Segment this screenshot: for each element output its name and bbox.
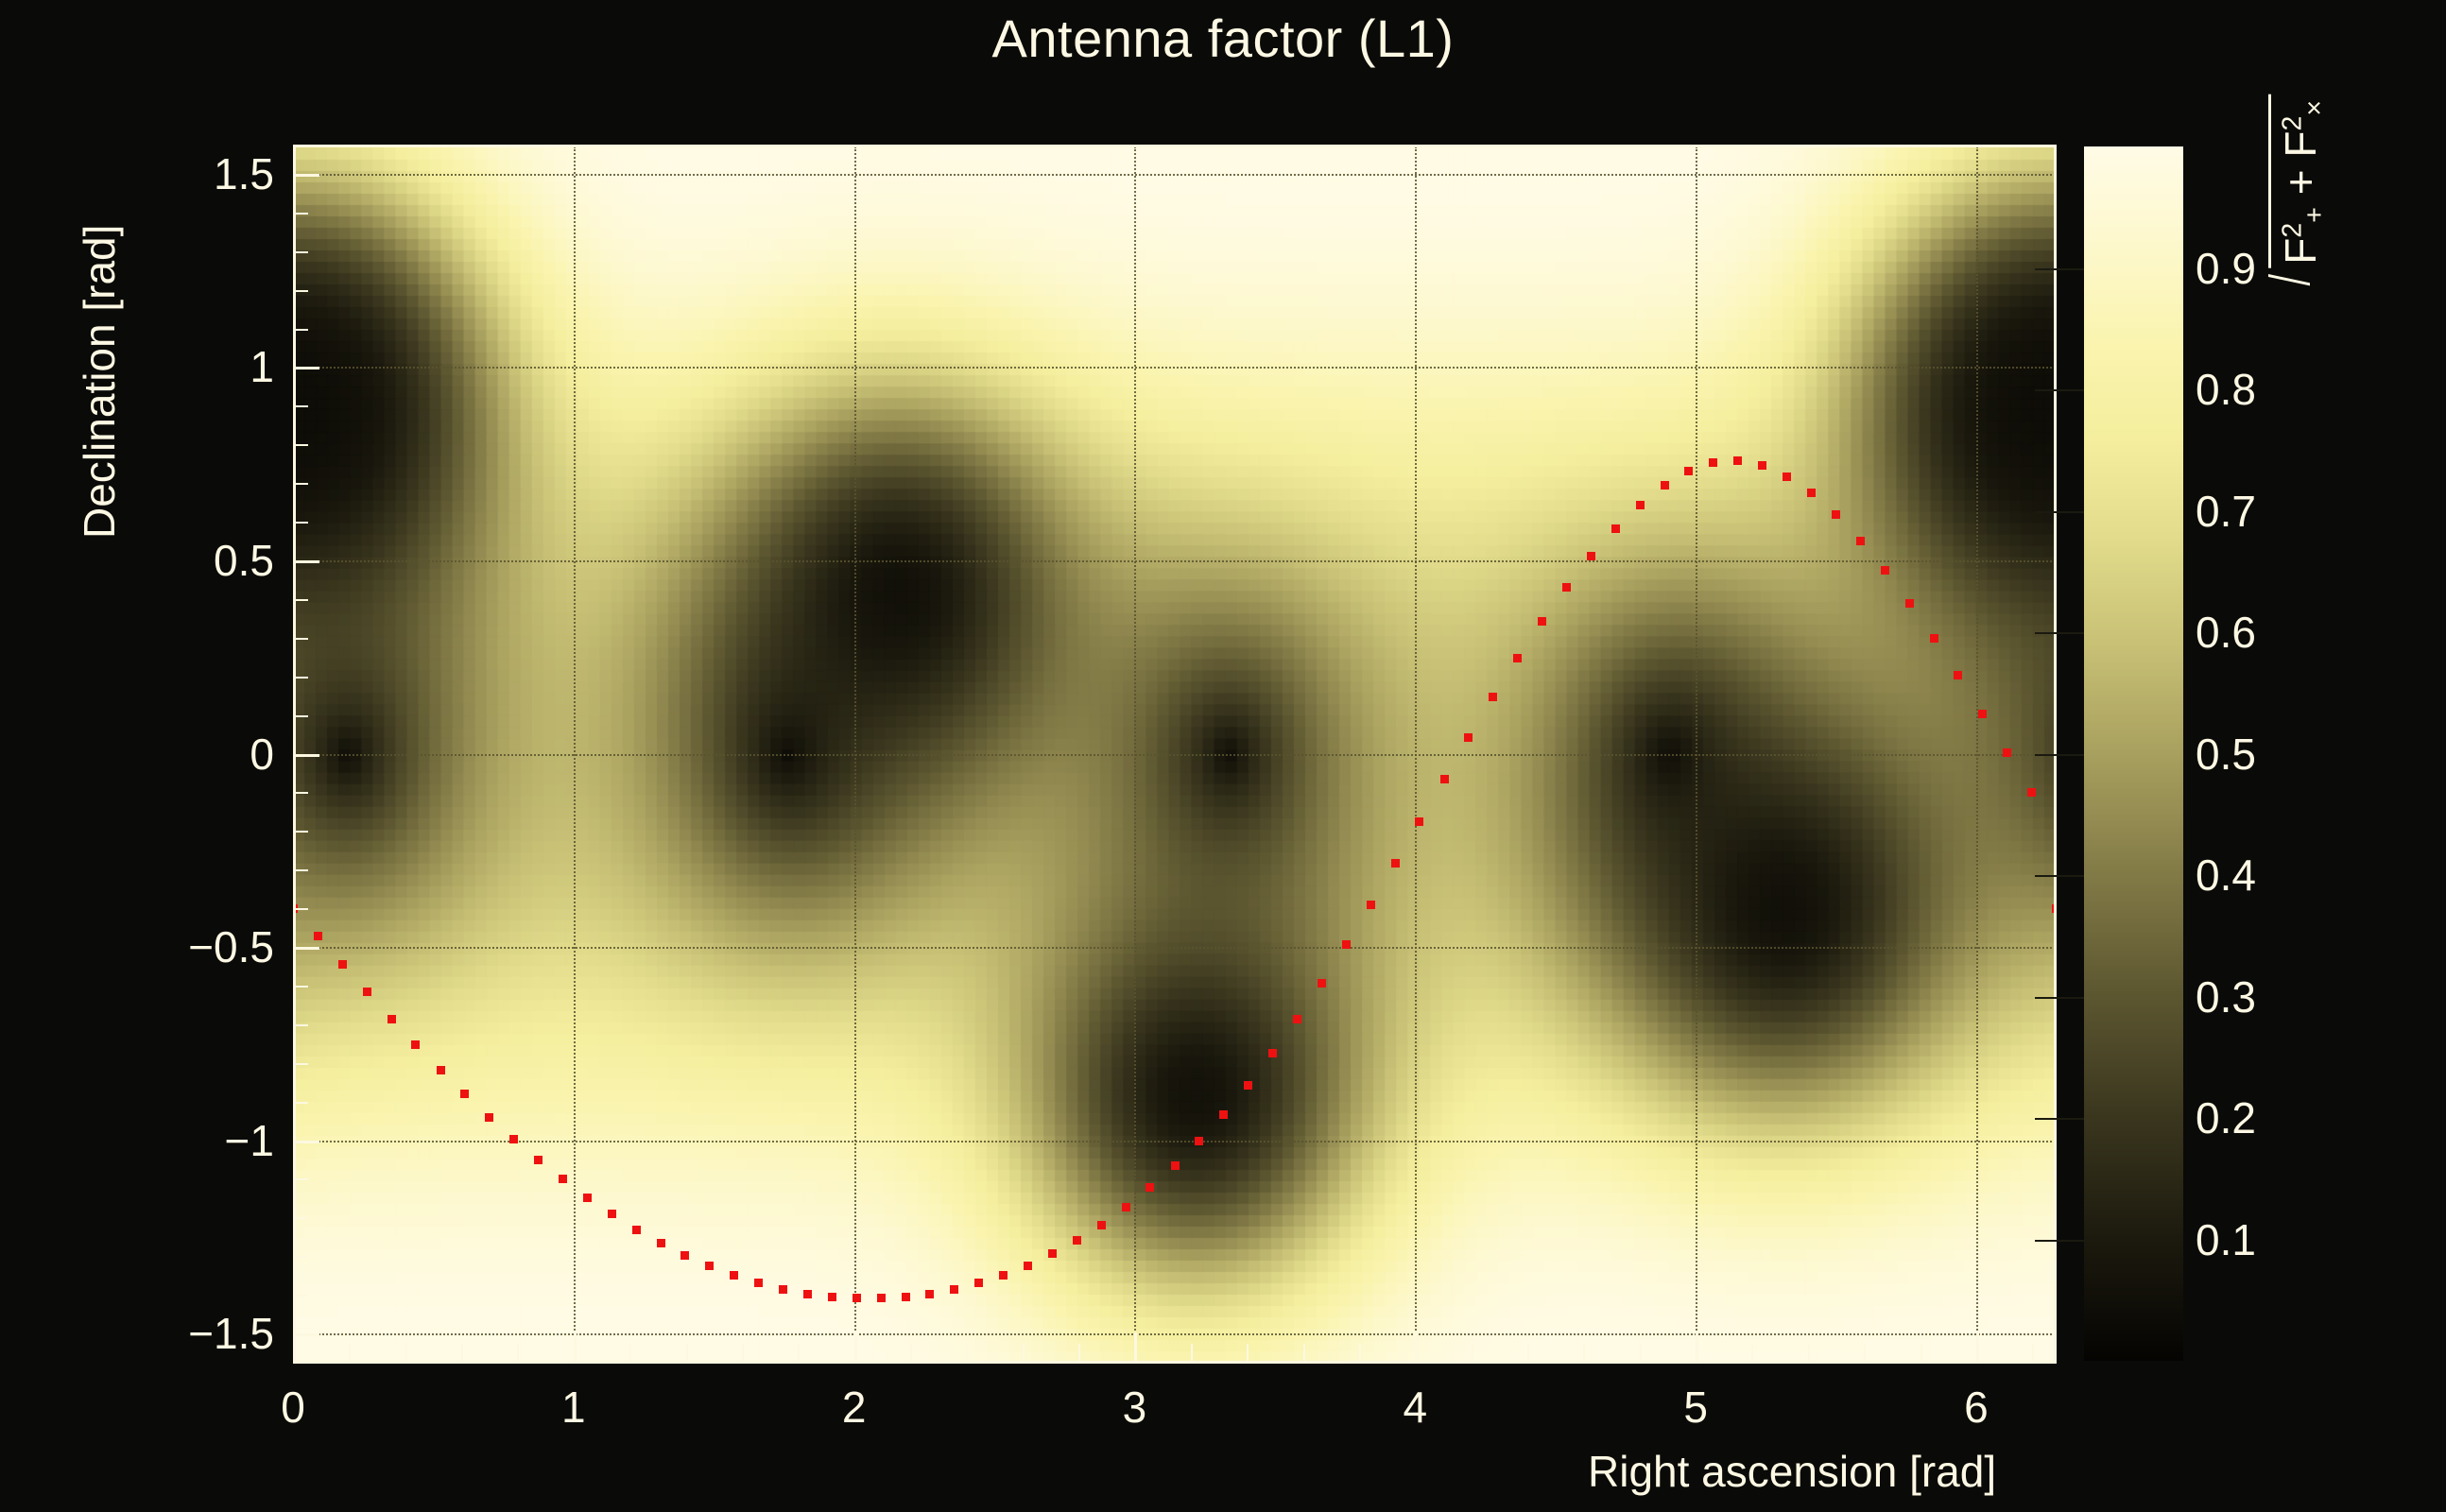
- y-axis-minor-tick: [293, 908, 308, 910]
- x-axis-major-tick: [1415, 1332, 1418, 1361]
- colorbar-tick: [2035, 1118, 2084, 1120]
- y-axis-tick-label: −1.5: [113, 1308, 274, 1359]
- x-axis-major-tick: [1976, 1332, 1979, 1361]
- x-axis-minor-tick: [966, 1344, 968, 1361]
- x-axis-major-tick: [1134, 1332, 1137, 1361]
- x-axis-minor-tick: [461, 1344, 463, 1361]
- colorbar-tick-label: 0.1: [2196, 1214, 2256, 1265]
- y-axis-minor-tick: [293, 638, 308, 640]
- y-axis-minor-tick: [293, 677, 308, 679]
- x-axis-minor-tick: [349, 1344, 351, 1361]
- plot-canvas: Antenna factor (L1) 0123456 −1.5−1−0.500…: [0, 0, 2446, 1512]
- y-axis-major-tick: [293, 367, 319, 369]
- colorbar-tick: [2035, 268, 2084, 270]
- x-axis-title: Right ascension [rad]: [1588, 1446, 1996, 1497]
- colorbar-tick-label: 0.4: [2196, 850, 2256, 901]
- x-axis-minor-tick: [629, 1344, 631, 1361]
- colorbar-title-expression: F2+ + F2×: [2268, 94, 2331, 268]
- x-axis-minor-tick: [1527, 1344, 1529, 1361]
- colorbar-tick: [2035, 875, 2084, 877]
- x-axis-line: [293, 1361, 2057, 1364]
- y-axis-minor-tick: [293, 1256, 308, 1258]
- y-axis-minor-tick: [293, 1295, 308, 1297]
- x-axis-tick-label: 3: [1123, 1382, 1147, 1433]
- colorbar-tick: [2035, 1240, 2084, 1242]
- y-axis-major-tick: [293, 1333, 319, 1336]
- x-axis-tick-label: 1: [561, 1382, 586, 1433]
- y-axis-major-tick: [293, 1141, 319, 1143]
- x-axis-minor-tick: [1921, 1344, 1922, 1361]
- colorbar-title: F2+ + F2×: [2268, 94, 2331, 268]
- colorbar-tick-label: 0.8: [2196, 364, 2256, 415]
- x-axis-major-tick: [1696, 1332, 1698, 1361]
- page-title: Antenna factor (L1): [0, 8, 2446, 69]
- y-axis-minor-tick: [293, 715, 308, 717]
- y-axis-minor-tick: [293, 1217, 308, 1219]
- x-axis-minor-tick: [1078, 1344, 1080, 1361]
- x-axis-minor-tick: [1023, 1344, 1025, 1361]
- x-axis-minor-tick: [910, 1344, 912, 1361]
- colorbar: 0.10.20.30.40.50.60.70.80.9: [2084, 146, 2183, 1361]
- x-axis-major-tick: [293, 1332, 296, 1361]
- x-axis-minor-tick: [1472, 1344, 1473, 1361]
- y-axis-minor-tick: [293, 405, 308, 407]
- y-axis-minor-tick: [293, 329, 308, 331]
- y-axis-minor-tick: [293, 1063, 308, 1065]
- y-axis-tick-label: −0.5: [113, 921, 274, 972]
- colorbar-tick-label: 0.5: [2196, 729, 2256, 780]
- x-axis-minor-tick: [2032, 1344, 2034, 1361]
- y-axis-minor-tick: [293, 1178, 308, 1180]
- x-axis-minor-tick: [1303, 1344, 1305, 1361]
- y-axis-minor-tick: [293, 483, 308, 485]
- y-axis-tick-label: 0: [113, 729, 274, 780]
- x-axis-minor-tick: [1864, 1344, 1866, 1361]
- colorbar-tick-label: 0.9: [2196, 243, 2256, 294]
- colorbar-tick: [2035, 997, 2084, 999]
- y-axis-minor-tick: [293, 213, 308, 215]
- x-axis-minor-tick: [1583, 1344, 1585, 1361]
- colorbar-tick-label: 0.3: [2196, 971, 2256, 1022]
- y-axis-tick-label: 1.5: [113, 148, 274, 199]
- x-axis-minor-tick: [405, 1344, 407, 1361]
- colorbar-gradient: [2084, 146, 2183, 1361]
- x-axis-minor-tick: [1247, 1344, 1249, 1361]
- y-axis-minor-tick: [293, 599, 308, 601]
- x-axis-minor-tick: [798, 1344, 800, 1361]
- colorbar-tick: [2035, 511, 2084, 513]
- colorbar-tick-label: 0.2: [2196, 1092, 2256, 1143]
- y-axis-tick-label: 0.5: [113, 535, 274, 586]
- y-axis-minor-tick: [293, 1024, 308, 1026]
- x-axis-minor-tick: [1359, 1344, 1361, 1361]
- y-axis-tick-label: −1: [113, 1115, 274, 1166]
- y-axis-minor-tick: [293, 444, 308, 446]
- x-axis-tick-label: 0: [281, 1382, 305, 1433]
- y-axis-minor-tick: [293, 1102, 308, 1104]
- y-axis-major-tick: [293, 754, 319, 757]
- y-axis-major-tick: [293, 560, 319, 563]
- heatmap-plot-area: [293, 146, 2056, 1361]
- f-cross-term: F2×: [2276, 100, 2325, 158]
- plot-top-line: [293, 145, 2057, 147]
- colorbar-tick: [2035, 389, 2084, 391]
- colorbar-tick: [2035, 754, 2084, 756]
- x-axis-tick-label: 2: [842, 1382, 867, 1433]
- plus-operator: +: [2276, 158, 2325, 207]
- x-axis-minor-tick: [1640, 1344, 1642, 1361]
- x-axis-tick-label: 4: [1403, 1382, 1427, 1433]
- y-axis-title: Declination [rad]: [74, 225, 125, 539]
- x-axis-tick-label: 6: [1964, 1382, 1989, 1433]
- y-axis-major-tick: [293, 947, 319, 950]
- y-axis-minor-tick: [293, 290, 308, 292]
- y-axis-tick-label: 1: [113, 341, 274, 392]
- x-axis-minor-tick: [517, 1344, 519, 1361]
- sqrt-icon: F2+ + F2×: [2268, 94, 2331, 268]
- y-axis-minor-tick: [293, 251, 308, 253]
- y-axis-minor-tick: [293, 792, 308, 794]
- x-axis-major-tick: [854, 1332, 857, 1361]
- y-axis-minor-tick: [293, 869, 308, 871]
- x-axis-major-tick: [574, 1332, 577, 1361]
- colorbar-tick-label: 0.6: [2196, 607, 2256, 658]
- x-axis-minor-tick: [686, 1344, 688, 1361]
- colorbar-tick: [2035, 632, 2084, 634]
- y-axis-minor-tick: [293, 522, 308, 524]
- x-axis-tick-label: 5: [1683, 1382, 1708, 1433]
- y-axis-minor-tick: [293, 986, 308, 988]
- x-axis-minor-tick: [1751, 1344, 1753, 1361]
- y-axis-major-tick: [293, 174, 319, 177]
- y-axis-minor-tick: [293, 831, 308, 833]
- x-axis-minor-tick: [742, 1344, 744, 1361]
- colorbar-tick-label: 0.7: [2196, 486, 2256, 537]
- heatmap-image: [293, 146, 2056, 1361]
- x-axis-minor-tick: [1808, 1344, 1810, 1361]
- f-plus-term: F2+: [2276, 207, 2325, 265]
- x-axis-minor-tick: [1191, 1344, 1193, 1361]
